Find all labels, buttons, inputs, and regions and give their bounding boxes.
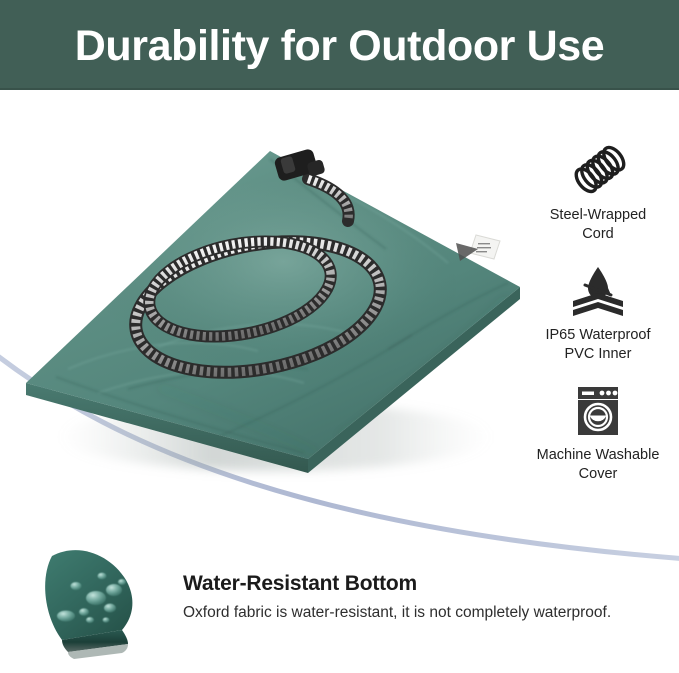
water-beading-inset-photo [18, 520, 166, 668]
feature-list: Steel-Wrapped Cord IP65 Waterproof PVC I… [518, 142, 678, 502]
feature-label: Machine Washable Cover [518, 446, 678, 484]
feature-label: Steel-Wrapped Cord [518, 206, 678, 244]
header-banner: Durability for Outdoor Use [0, 0, 679, 90]
waterproof-layers-icon [518, 262, 678, 320]
product-photo-heated-pad [8, 137, 528, 482]
feature-item-machine-washable: Machine Washable Cover [518, 382, 678, 484]
washing-machine-icon [518, 382, 678, 440]
bottom-callout-subtitle: Oxford fabric is water-resistant, it is … [183, 602, 663, 623]
bottom-callout-heading: Water-Resistant Bottom [183, 570, 663, 597]
main-stage: Steel-Wrapped Cord IP65 Waterproof PVC I… [0, 92, 679, 673]
feature-item-ip65-waterproof: IP65 Waterproof PVC Inner [518, 262, 678, 364]
feature-item-steel-wrapped-cord: Steel-Wrapped Cord [518, 142, 678, 244]
coiled-cord-icon [518, 142, 678, 200]
feature-label: IP65 Waterproof PVC Inner [518, 326, 678, 364]
care-tag [456, 235, 500, 261]
bottom-callout: Water-Resistant Bottom Oxford fabric is … [183, 570, 663, 623]
page-title: Durability for Outdoor Use [0, 20, 679, 72]
